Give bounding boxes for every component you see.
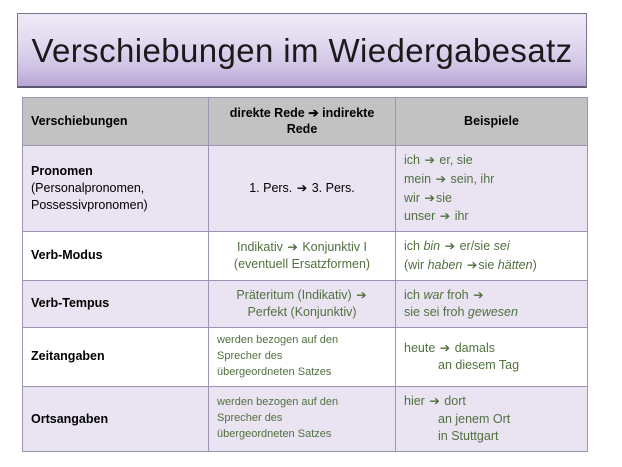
example-line: unser ➔ ihr [404, 207, 579, 226]
row-label-pronomen: Pronomen (Personalpronomen,Possessivpron… [23, 146, 209, 232]
shift-line: Sprecher des [217, 411, 387, 427]
arrow-icon: ➔ [444, 238, 456, 253]
example-line: wir ➔sie [404, 189, 579, 208]
example-line: an diesem Tag [404, 357, 579, 375]
shift-line: übergeordneten Satzes [217, 365, 387, 381]
arrow-icon: ➔ [439, 208, 451, 223]
row-label-zeitangaben: Zeitangaben [23, 328, 209, 387]
row-examples-verb-tempus: ich war froh ➔ sie sei froh gewesen [396, 280, 588, 328]
shift-line: Sprecher des [217, 349, 387, 365]
column-header-verschiebungen: Verschiebungen [23, 98, 209, 146]
row-label-verb-modus: Verb-Modus [23, 232, 209, 281]
row-label-main: Ortsangaben [31, 411, 200, 428]
example-line: sie sei froh gewesen [404, 304, 579, 322]
row-label-main: Pronomen [31, 163, 200, 180]
table-body: Pronomen (Personalpronomen,Possessivpron… [23, 146, 588, 452]
arrow-icon: ➔ [423, 190, 435, 205]
verschiebungen-table: Verschiebungen direkte Rede ➔ indirekte … [22, 97, 588, 452]
arrow-icon: ➔ [472, 287, 484, 302]
arrow-icon: ➔ [435, 171, 447, 186]
row-examples-ortsangaben: hier ➔ dort an jenem Ort in Stuttgart [396, 386, 588, 451]
shift-line: werden bezogen auf den [217, 333, 387, 349]
row-shift-verb-modus: Indikativ ➔ Konjunktiv I (eventuell Ersa… [209, 232, 396, 281]
row-label-main: Zeitangaben [31, 348, 200, 365]
shift-line: Indikativ ➔ Konjunktiv I [217, 238, 387, 257]
row-label-sub: (Personalpronomen,Possessivpronomen) [31, 180, 200, 214]
shift-line: Präteritum (Indikativ) ➔ [217, 286, 387, 305]
example-line: ich ➔ er, sie [404, 151, 579, 170]
example-line: (wir haben ➔sie hätten) [404, 256, 579, 275]
row-examples-pronomen: ich ➔ er, sie mein ➔ sein, ihr wir ➔sie … [396, 146, 588, 232]
shift-line: übergeordneten Satzes [217, 427, 387, 443]
shift-line: Perfekt (Konjunktiv) [217, 304, 387, 322]
arrow-icon: ➔ [423, 152, 435, 167]
arrow-icon: ➔ [355, 287, 367, 302]
example-line: ich war froh ➔ [404, 286, 579, 305]
column-header-beispiele: Beispiele [396, 98, 588, 146]
arrow-icon: ➔ [296, 180, 308, 195]
table-row: Pronomen (Personalpronomen,Possessivpron… [23, 146, 588, 232]
row-examples-verb-modus: ich bin ➔ er/sie sei (wir haben ➔sie hät… [396, 232, 588, 281]
arrow-icon: ➔ [439, 340, 451, 355]
example-line: heute ➔ damals [404, 339, 579, 358]
example-line: in Stuttgart [404, 428, 579, 446]
table-row: Zeitangaben werden bezogen auf den Sprec… [23, 328, 588, 387]
row-examples-zeitangaben: heute ➔ damals an diesem Tag [396, 328, 588, 387]
arrow-icon: ➔ [286, 239, 298, 254]
example-line: an jenem Ort [404, 411, 579, 429]
row-label-verb-tempus: Verb-Tempus [23, 280, 209, 328]
table-header-row: Verschiebungen direkte Rede ➔ indirekte … [23, 98, 588, 146]
row-label-ortsangaben: Ortsangaben [23, 386, 209, 451]
arrow-icon: ➔ [428, 393, 440, 408]
slide-title-banner: Verschiebungen im Wiedergabesatz [17, 13, 587, 88]
row-shift-ortsangaben: werden bezogen auf den Sprecher des über… [209, 386, 396, 451]
example-line: mein ➔ sein, ihr [404, 170, 579, 189]
example-line: hier ➔ dort [404, 392, 579, 411]
shift-line: werden bezogen auf den [217, 395, 387, 411]
arrow-icon: ➔ [466, 257, 478, 272]
table-row: Verb-Modus Indikativ ➔ Konjunktiv I (eve… [23, 232, 588, 281]
table-header: Verschiebungen direkte Rede ➔ indirekte … [23, 98, 588, 146]
row-label-main: Verb-Tempus [31, 295, 200, 312]
table-row: Verb-Tempus Präteritum (Indikativ) ➔ Per… [23, 280, 588, 328]
table-row: Ortsangaben werden bezogen auf den Sprec… [23, 386, 588, 451]
row-label-main: Verb-Modus [31, 247, 200, 264]
row-shift-pronomen: 1. Pers. ➔ 3. Pers. [209, 146, 396, 232]
example-line: ich bin ➔ er/sie sei [404, 237, 579, 256]
row-shift-verb-tempus: Präteritum (Indikativ) ➔ Perfekt (Konjun… [209, 280, 396, 328]
page-title: Verschiebungen im Wiedergabesatz [31, 34, 572, 67]
column-header-direkte-indirekte-rede: direkte Rede ➔ indirekte Rede [209, 98, 396, 146]
shift-line: (eventuell Ersatzformen) [217, 256, 387, 274]
row-shift-zeitangaben: werden bezogen auf den Sprecher des über… [209, 328, 396, 387]
